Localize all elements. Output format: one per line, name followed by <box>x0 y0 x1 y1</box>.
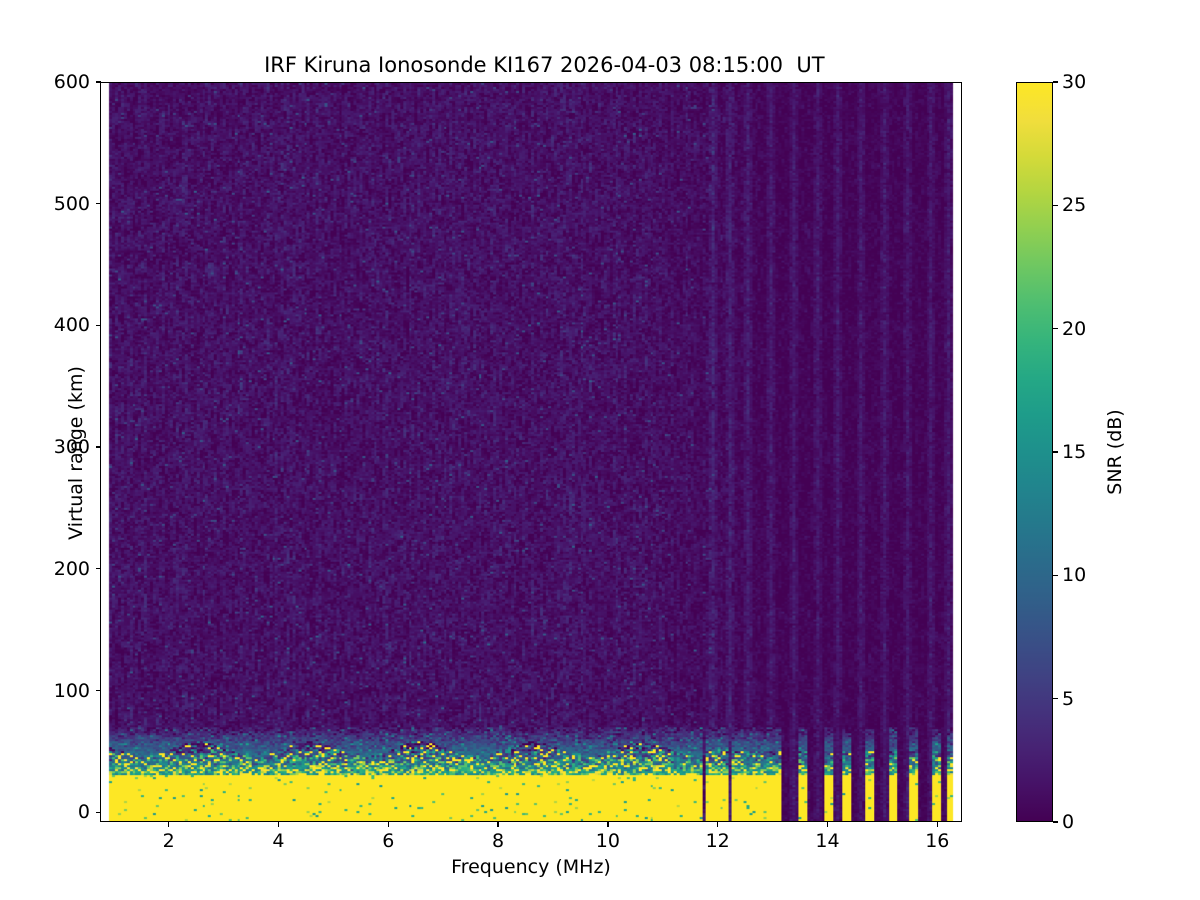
x-tick-label-8: 8 <box>492 830 504 852</box>
ionogram-axes <box>100 82 962 822</box>
colorbar-tick-mark <box>1053 698 1058 699</box>
x-tick-label-2: 2 <box>163 830 175 852</box>
colorbar-tick-mark <box>1053 821 1058 822</box>
x-tick-mark <box>388 822 389 827</box>
colorbar-tick-label-30: 30 <box>1062 71 1086 93</box>
x-tick-mark <box>717 822 718 827</box>
ionogram-figure: IRF Kiruna Ionosonde KI167 2026-04-03 08… <box>0 0 1200 900</box>
colorbar-label: SNR (dB) <box>1104 82 1126 822</box>
colorbar-gradient <box>1017 83 1052 821</box>
colorbar-tick-label-5: 5 <box>1062 688 1074 710</box>
y-tick-mark <box>96 446 101 447</box>
x-tick-label-4: 4 <box>272 830 284 852</box>
x-tick-label-6: 6 <box>382 830 394 852</box>
x-tick-mark <box>497 822 498 827</box>
y-tick-mark <box>96 690 101 691</box>
colorbar-tick-mark <box>1053 451 1058 452</box>
y-tick-mark <box>96 568 101 569</box>
colorbar-tick-label-10: 10 <box>1062 564 1086 586</box>
colorbar <box>1016 82 1053 822</box>
colorbar-tick-label-0: 0 <box>1062 811 1074 833</box>
y-tick-mark <box>96 325 101 326</box>
colorbar-tick-label-25: 25 <box>1062 194 1086 216</box>
y-tick-mark <box>96 203 101 204</box>
x-axis-label: Frequency (MHz) <box>100 856 962 878</box>
title-line-1: IRF Kiruna Ionosonde KI167 2026-04-03 08… <box>264 53 824 77</box>
x-tick-mark <box>168 822 169 827</box>
x-tick-mark <box>607 822 608 827</box>
x-tick-mark <box>278 822 279 827</box>
colorbar-tick-mark <box>1053 575 1058 576</box>
colorbar-tick-mark <box>1053 328 1058 329</box>
colorbar-tick-label-15: 15 <box>1062 441 1086 463</box>
colorbar-tick-label-20: 20 <box>1062 318 1086 340</box>
ionogram-heatmap <box>101 83 961 821</box>
x-tick-label-16: 16 <box>925 830 949 852</box>
y-tick-mark <box>96 81 101 82</box>
x-tick-mark <box>827 822 828 827</box>
x-tick-mark <box>937 822 938 827</box>
colorbar-tick-mark <box>1053 205 1058 206</box>
x-tick-label-10: 10 <box>596 830 620 852</box>
x-tick-label-12: 12 <box>706 830 730 852</box>
y-tick-mark <box>96 812 101 813</box>
y-axis-label: Virtual range (km) <box>65 83 87 823</box>
colorbar-tick-mark <box>1053 81 1058 82</box>
x-tick-label-14: 14 <box>815 830 839 852</box>
